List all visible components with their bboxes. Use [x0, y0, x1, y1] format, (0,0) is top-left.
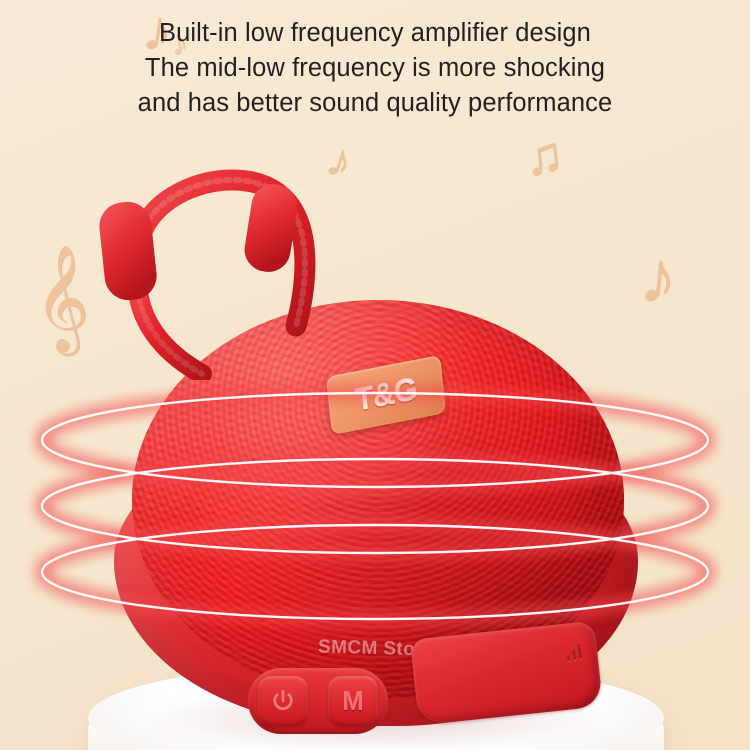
- headline-text: Built-in low frequency amplifier design …: [0, 16, 750, 121]
- beamed-notes-icon: ♫: [521, 128, 565, 184]
- headline-line-2: The mid-low frequency is more shocking: [0, 51, 750, 86]
- mode-button[interactable]: M: [328, 676, 378, 726]
- control-button-panel: M: [248, 668, 388, 734]
- power-icon: [270, 688, 296, 714]
- carabiner-cord-loop: [80, 150, 370, 380]
- headline-line-1: Built-in low frequency amplifier design: [0, 16, 750, 51]
- mode-button-label: M: [342, 686, 364, 717]
- port-cover-flap[interactable]: [410, 621, 603, 726]
- power-button[interactable]: [258, 676, 308, 726]
- product-banner: Built-in low frequency amplifier design …: [0, 0, 750, 750]
- signal-bars-icon: [565, 644, 582, 661]
- signal-bar: [572, 650, 577, 660]
- headline-line-3: and has better sound quality performance: [0, 86, 750, 121]
- signal-bar: [567, 656, 571, 661]
- signal-bar: [577, 644, 583, 659]
